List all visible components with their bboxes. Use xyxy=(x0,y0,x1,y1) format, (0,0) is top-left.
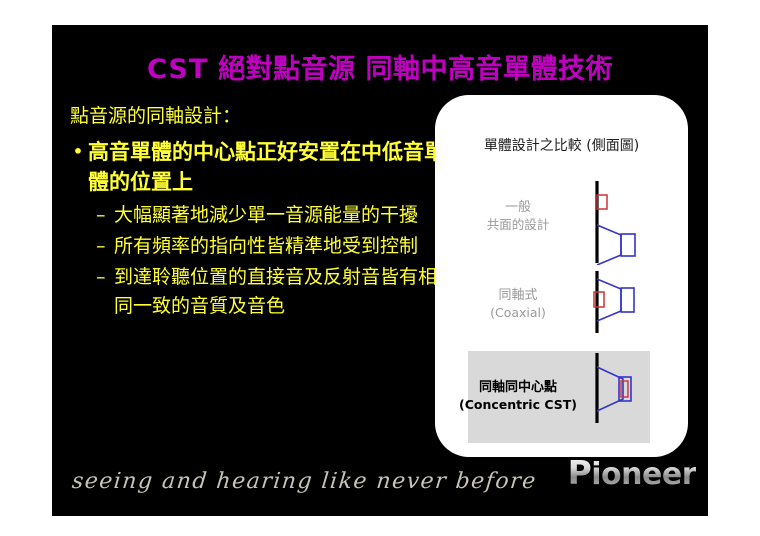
row-label-coplanar: 一般 共面的設計 xyxy=(453,199,583,233)
row-label-en-2: (Coaxial) xyxy=(453,304,583,321)
presentation-slide: CST 絕對點音源 同軸中高音單體技術 點音源的同軸設計： • 高音單體的中心點… xyxy=(52,25,708,516)
row-label-coaxial: 同軸式 (Coaxial) xyxy=(453,287,583,321)
sub-bullet-text-1: 大幅顯著地減少單一音源能量的干擾 xyxy=(114,201,450,230)
lead-text: 點音源的同軸設計： xyxy=(70,103,450,129)
row-label-en-1: 共面的設計 xyxy=(453,216,583,233)
dash-icon: – xyxy=(96,201,114,230)
pioneer-logo-mark: P xyxy=(568,453,592,492)
speaker-coplanar-icon xyxy=(575,179,675,265)
sub-bullet-item-3: – 到達聆聽位置的直接音及反射音皆有相同一致的音質及音色 xyxy=(68,263,450,321)
comparison-row-coaxial: 同軸式 (Coaxial) xyxy=(435,275,688,361)
row-label-cn-1: 一般 xyxy=(505,200,531,215)
content-column: 點音源的同軸設計： • 高音單體的中心點正好安置在中低音單體的位置上 – 大幅顯… xyxy=(68,103,450,321)
dash-icon: – xyxy=(96,263,114,292)
pioneer-logo-text: ioneer xyxy=(591,457,696,492)
bullet-dot-icon: • xyxy=(68,137,88,167)
dash-icon: – xyxy=(96,232,114,261)
sub-bullet-item-1: – 大幅顯著地減少單一音源能量的干擾 xyxy=(68,201,450,230)
row-label-cn-3: 同軸同中心點 xyxy=(479,380,557,395)
speaker-concentric-cst-icon xyxy=(575,353,675,439)
pioneer-logo: Pioneer xyxy=(568,453,696,492)
panel-title: 單體設計之比較 (側面圖) xyxy=(435,135,688,155)
row-label-concentric-cst: 同軸同中心點 (Concentric CST) xyxy=(453,379,583,413)
title-prefix: CST xyxy=(147,54,208,85)
sub-bullet-item-2: – 所有頻率的指向性皆精準地受到控制 xyxy=(68,232,450,261)
main-bullet-item: • 高音單體的中心點正好安置在中低音單體的位置上 xyxy=(68,137,450,197)
speaker-coaxial-icon xyxy=(575,271,675,357)
comparison-row-coplanar: 一般 共面的設計 xyxy=(435,183,688,269)
comparison-row-concentric-cst: 同軸同中心點 (Concentric CST) xyxy=(435,357,688,443)
slide-canvas: CST 絕對點音源 同軸中高音單體技術 點音源的同軸設計： • 高音單體的中心點… xyxy=(0,0,760,536)
main-bullet-text: 高音單體的中心點正好安置在中低音單體的位置上 xyxy=(88,137,450,197)
brand-tagline: seeing and hearing like never before xyxy=(71,469,538,494)
row-label-en-3: (Concentric CST) xyxy=(453,396,583,413)
title-main: 絕對點音源 同軸中高音單體技術 xyxy=(218,54,613,85)
sub-bullet-text-2: 所有頻率的指向性皆精準地受到控制 xyxy=(114,232,450,261)
row-label-cn-2: 同軸式 xyxy=(498,288,537,303)
page-title: CST 絕對點音源 同軸中高音單體技術 xyxy=(52,47,708,86)
comparison-panel: 單體設計之比較 (側面圖) 一般 共面的設計 xyxy=(435,95,688,457)
sub-bullet-text-3: 到達聆聽位置的直接音及反射音皆有相同一致的音質及音色 xyxy=(114,263,450,321)
